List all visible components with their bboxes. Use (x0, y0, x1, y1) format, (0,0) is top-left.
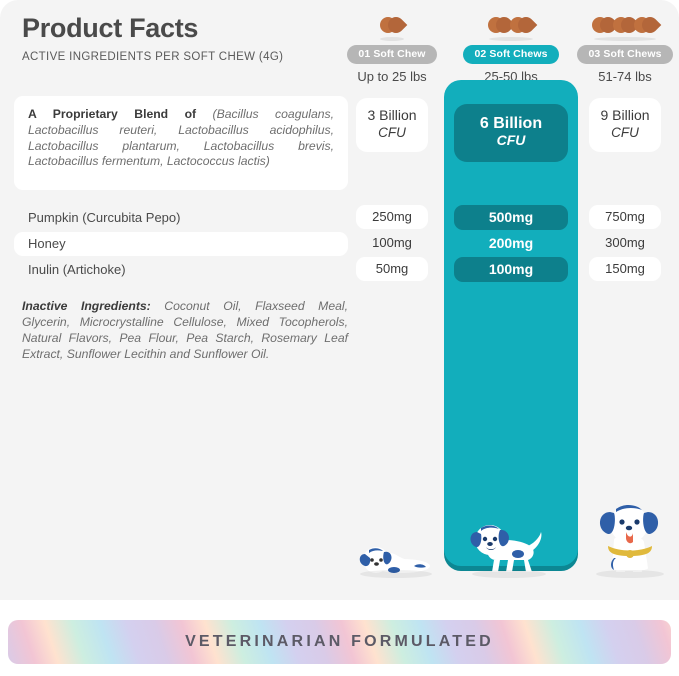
dose-weight-range: Up to 25 lbs (338, 69, 446, 84)
cfu-amount: 6 Billion (454, 115, 568, 132)
cfu-unit: CFU (589, 124, 661, 141)
soft-chew-icon-group-2 (457, 8, 565, 44)
table-row: Pumpkin (Curcubita Pepo) 250mg 500mg 750… (0, 205, 679, 231)
ingredient-name: Pumpkin (Curcubita Pepo) (28, 210, 334, 226)
inactive-ingredients: Inactive Ingredients: Coconut Oil, Flaxs… (22, 298, 348, 362)
value-cell: 150mg (589, 257, 661, 281)
value-badge: 250mg (356, 205, 428, 229)
dog-walking-illustration (466, 516, 552, 578)
value-cell-highlighted: 200mg (454, 231, 568, 256)
value-cell-highlighted: 6 Billion CFU (454, 104, 568, 162)
inactive-ingredients-label: Inactive Ingredients: (22, 299, 151, 313)
chew-shadow (594, 37, 656, 41)
dog-shadow (596, 570, 664, 578)
dose-column-header-2: 02 Soft Chews 25-50 lbs (457, 8, 565, 84)
dose-badge: 01 Soft Chew (347, 45, 436, 64)
dog-sitting-icon (592, 500, 668, 578)
dog-shadow (360, 570, 432, 578)
value-cell-highlighted: 100mg (454, 257, 568, 282)
ingredient-name-cell: Honey (14, 232, 348, 256)
cfu-badge: 3 Billion CFU (356, 98, 428, 152)
ingredient-name-cell: Inulin (Artichoke) (14, 258, 348, 282)
table-row: A Proprietary Blend of (Bacillus coagula… (0, 96, 679, 190)
cfu-amount: 9 Billion (589, 107, 661, 124)
value-cell: 50mg (356, 257, 428, 281)
cfu-badge: 9 Billion CFU (589, 98, 661, 152)
cfu-unit: CFU (356, 124, 428, 141)
dog-shadow (472, 570, 546, 578)
value-cell: 750mg (589, 205, 661, 229)
value-cell: 9 Billion CFU (589, 98, 661, 152)
value-badge: 150mg (589, 257, 661, 281)
ingredient-name: Honey (28, 236, 334, 252)
value-cell: 3 Billion CFU (356, 98, 428, 152)
dog-lying-icon (356, 530, 434, 578)
dog-sitting-illustration (592, 500, 668, 578)
table-row: Honey 100mg 200mg 300mg (0, 231, 679, 257)
value-badge: 50mg (356, 257, 428, 281)
value-cell: 100mg (356, 231, 428, 255)
dose-column-header-3: 03 Soft Chews 51-74 lbs (571, 8, 679, 84)
value-badge: 200mg (454, 231, 568, 256)
value-badge: 750mg (589, 205, 661, 229)
ingredient-name-cell: Pumpkin (Curcubita Pepo) (14, 206, 348, 230)
value-badge: 300mg (589, 231, 661, 255)
cfu-unit: CFU (454, 132, 568, 149)
dose-badge: 03 Soft Chews (577, 45, 672, 64)
chew-shadow (489, 37, 533, 41)
dog-walking-icon (466, 516, 552, 578)
soft-chew-icon (633, 14, 659, 37)
soft-chew-icon (379, 14, 405, 37)
facts-panel: Product Facts ACTIVE INGREDIENTS PER SOF… (0, 0, 679, 600)
value-badge: 100mg (356, 231, 428, 255)
value-cell-highlighted: 500mg (454, 205, 568, 230)
chew-shadow (380, 37, 404, 41)
ingredient-name: Inulin (Artichoke) (28, 262, 334, 278)
soft-chew-icon-group-3 (571, 8, 679, 44)
soft-chew-icon-group-1 (338, 8, 446, 44)
value-badge: 500mg (454, 205, 568, 230)
dose-column-header-1: 01 Soft Chew Up to 25 lbs (338, 8, 446, 84)
banner-text: VETERINARIAN FORMULATED (185, 633, 494, 651)
page-subtitle: ACTIVE INGREDIENTS PER SOFT CHEW (4G) (22, 51, 352, 63)
soft-chew-icon (509, 14, 535, 37)
veterinarian-formulated-banner: VETERINARIAN FORMULATED (8, 620, 671, 664)
header: Product Facts ACTIVE INGREDIENTS PER SOF… (22, 14, 352, 63)
cfu-amount: 3 Billion (356, 107, 428, 124)
dose-badge: 02 Soft Chews (463, 45, 558, 64)
row-spacer (0, 190, 679, 205)
table-row: Inulin (Artichoke) 50mg 100mg 150mg (0, 257, 679, 283)
dose-weight-range: 51-74 lbs (571, 69, 679, 84)
page-title: Product Facts (22, 14, 352, 44)
ingredient-name-cell: A Proprietary Blend of (Bacillus coagula… (14, 96, 348, 190)
cfu-badge: 6 Billion CFU (454, 104, 568, 162)
ingredient-table: A Proprietary Blend of (Bacillus coagula… (0, 96, 679, 283)
blend-label: A Proprietary Blend of (28, 107, 196, 121)
value-cell: 250mg (356, 205, 428, 229)
blend-description: A Proprietary Blend of (Bacillus coagula… (28, 107, 334, 170)
product-facts-page: Product Facts ACTIVE INGREDIENTS PER SOF… (0, 0, 679, 676)
value-badge: 100mg (454, 257, 568, 282)
value-cell: 300mg (589, 231, 661, 255)
